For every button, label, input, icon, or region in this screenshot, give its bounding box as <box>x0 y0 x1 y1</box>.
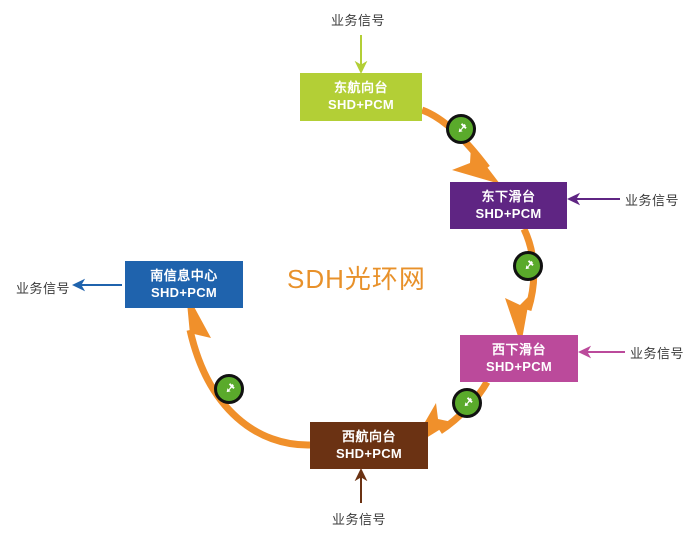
node-title: 西下滑台 <box>492 342 546 358</box>
bolt-glyph <box>519 257 537 275</box>
repeater-bolt-icon[interactable] <box>446 114 476 144</box>
ring-title: SDH光环网 <box>287 259 426 296</box>
node-subtitle: SHD+PCM <box>486 358 552 376</box>
node-east-glide[interactable]: 东下滑台 SHD+PCM <box>450 182 567 229</box>
node-subtitle: SHD+PCM <box>336 445 402 463</box>
signal-label-west-glide: 业务信号 <box>630 343 684 362</box>
bolt-glyph <box>458 394 476 412</box>
node-west-localizer[interactable]: 西航向台 SHD+PCM <box>310 422 428 469</box>
node-subtitle: SHD+PCM <box>328 96 394 114</box>
node-west-glide[interactable]: 西下滑台 SHD+PCM <box>460 335 578 382</box>
sdh-ring-diagram: 东航向台 SHD+PCM 东下滑台 SHD+PCM 西下滑台 SHD+PCM 西… <box>0 0 700 543</box>
node-title: 西航向台 <box>342 429 396 445</box>
node-subtitle: SHD+PCM <box>475 205 541 223</box>
node-south-info-center[interactable]: 南信息中心 SHD+PCM <box>125 261 243 308</box>
signal-label-west-localizer: 业务信号 <box>332 509 386 528</box>
repeater-bolt-icon[interactable] <box>513 251 543 281</box>
repeater-bolt-icon[interactable] <box>214 374 244 404</box>
ring-link-east-glide-to-west-glide <box>505 229 534 345</box>
repeater-bolt-icon[interactable] <box>452 388 482 418</box>
signal-label-south-info-center: 业务信号 <box>16 278 70 297</box>
node-title: 南信息中心 <box>150 268 218 284</box>
bolt-glyph <box>452 120 470 138</box>
node-title: 东下滑台 <box>481 189 535 205</box>
node-subtitle: SHD+PCM <box>151 284 217 302</box>
signal-label-east-glide: 业务信号 <box>625 190 679 209</box>
node-title: 东航向台 <box>334 80 388 96</box>
ring-link-west-localizer-to-south-info-center <box>186 292 310 445</box>
node-east-localizer[interactable]: 东航向台 SHD+PCM <box>300 73 422 121</box>
bolt-glyph <box>220 380 238 398</box>
signal-label-east-localizer: 业务信号 <box>331 10 385 29</box>
